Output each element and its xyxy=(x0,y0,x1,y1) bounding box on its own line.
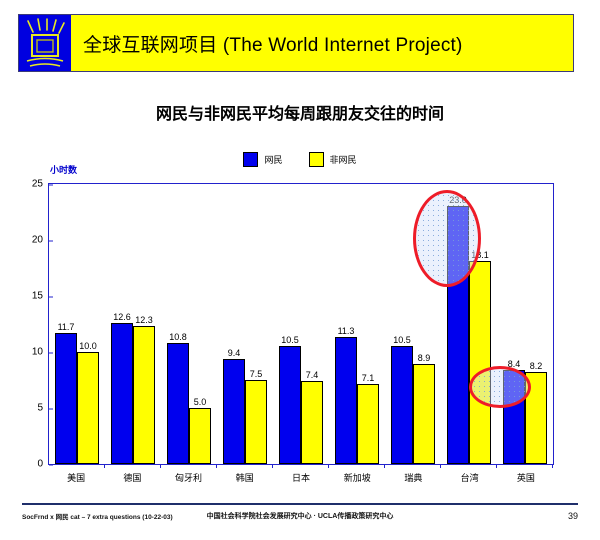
chart-area: 小时数 25 20 15 10 5 0 11.710.012.612.310.8… xyxy=(0,160,600,490)
x-axis-label: 日本 xyxy=(273,471,329,491)
bar-value-label: 10.5 xyxy=(393,335,411,345)
bar-netizen: 10.8 xyxy=(167,343,189,464)
bar-non-netizen: 7.1 xyxy=(357,384,379,464)
bar-non-netizen: 7.4 xyxy=(301,381,323,464)
bar-netizen: 10.5 xyxy=(391,346,413,464)
x-axis-label: 瑞典 xyxy=(385,471,441,491)
bar-non-netizen: 8.9 xyxy=(413,364,435,464)
y-tick-25: 25 xyxy=(32,179,49,190)
bar-group: 9.47.5 xyxy=(217,184,273,464)
y-tick-0: 0 xyxy=(37,459,49,470)
bar-group: 11.710.0 xyxy=(49,184,105,464)
bar-value-label: 12.3 xyxy=(135,315,153,325)
bar-value-label: 11.7 xyxy=(58,322,75,332)
bar-non-netizen: 10.0 xyxy=(77,352,99,464)
bar-netizen: 11.3 xyxy=(335,337,357,464)
bar-value-label: 7.1 xyxy=(362,373,375,383)
x-axis-label: 英国 xyxy=(498,471,554,491)
y-tick-20: 20 xyxy=(32,235,49,246)
bar-value-label: 11.3 xyxy=(338,326,355,336)
bar-non-netizen: 7.5 xyxy=(245,380,267,464)
bar-value-label: 9.4 xyxy=(228,348,241,358)
logo-box xyxy=(19,15,71,71)
bar-value-label: 18.1 xyxy=(471,250,489,260)
bar-group: 8.48.2 xyxy=(497,184,553,464)
chart-title: 网民与非网民平均每周跟朋友交往的时间 xyxy=(0,100,600,124)
bar-non-netizen: 5.0 xyxy=(189,408,211,464)
bar-value-label: 8.4 xyxy=(508,359,521,369)
bar-value-label: 8.2 xyxy=(530,361,543,371)
slide-title: 全球互联网项目 (The World Internet Project) xyxy=(83,30,463,57)
bar-non-netizen: 8.2 xyxy=(525,372,547,464)
bar-group: 23.018.1 xyxy=(441,184,497,464)
bar-netizen: 8.4 xyxy=(503,370,525,464)
y-axis-title: 小时数 xyxy=(50,163,77,176)
bar-group: 11.37.1 xyxy=(329,184,385,464)
x-axis-label: 美国 xyxy=(48,471,104,491)
x-axis-label: 德国 xyxy=(104,471,160,491)
x-axis-labels: 美国德国匈牙利韩国日本新加坡瑞典台湾英国 xyxy=(48,471,554,491)
y-tick-15: 15 xyxy=(32,291,49,302)
bar-group: 10.85.0 xyxy=(161,184,217,464)
slide-title-bar: 全球互联网项目 (The World Internet Project) xyxy=(71,15,573,71)
bar-value-label: 10.8 xyxy=(169,332,187,342)
footer-divider xyxy=(22,503,578,505)
y-tick-10: 10 xyxy=(32,347,49,358)
bar-value-label: 23.0 xyxy=(449,195,467,205)
x-axis-label: 台湾 xyxy=(442,471,498,491)
footer-organizations: 中国社会科学院社会发展研究中心 · UCLA传播政策研究中心 xyxy=(22,511,578,521)
bar-value-label: 7.4 xyxy=(306,370,319,380)
bar-value-label: 10.0 xyxy=(79,341,97,351)
bar-value-label: 5.0 xyxy=(194,397,207,407)
bar-non-netizen: 12.3 xyxy=(133,326,155,464)
bar-group: 12.612.3 xyxy=(105,184,161,464)
bar-groups: 11.710.012.612.310.85.09.47.510.57.411.3… xyxy=(49,184,553,464)
x-axis-label: 韩国 xyxy=(217,471,273,491)
bar-netizen: 11.7 xyxy=(55,333,77,464)
bar-netizen: 9.4 xyxy=(223,359,245,464)
bar-group: 10.57.4 xyxy=(273,184,329,464)
bar-value-label: 10.5 xyxy=(281,335,299,345)
bar-value-label: 8.9 xyxy=(418,353,431,363)
bar-value-label: 7.5 xyxy=(250,369,263,379)
bar-netizen: 12.6 xyxy=(111,323,133,464)
bar-non-netizen: 18.1 xyxy=(469,261,491,464)
plot-area: 25 20 15 10 5 0 11.710.012.612.310.85.09… xyxy=(48,183,554,465)
bar-group: 10.58.9 xyxy=(385,184,441,464)
slide-footer: SocFrnd x 网民 cat – 7 extra questions (10… xyxy=(22,506,578,526)
x-axis-label: 新加坡 xyxy=(329,471,385,491)
slide-header: 全球互联网项目 (The World Internet Project) xyxy=(18,14,574,72)
bar-netizen: 23.0 xyxy=(447,206,469,464)
slide-page-number: 39 xyxy=(568,511,578,521)
x-axis-label: 匈牙利 xyxy=(160,471,216,491)
bar-netizen: 10.5 xyxy=(279,346,301,464)
y-tick-5: 5 xyxy=(37,403,49,414)
bar-value-label: 12.6 xyxy=(113,312,131,322)
